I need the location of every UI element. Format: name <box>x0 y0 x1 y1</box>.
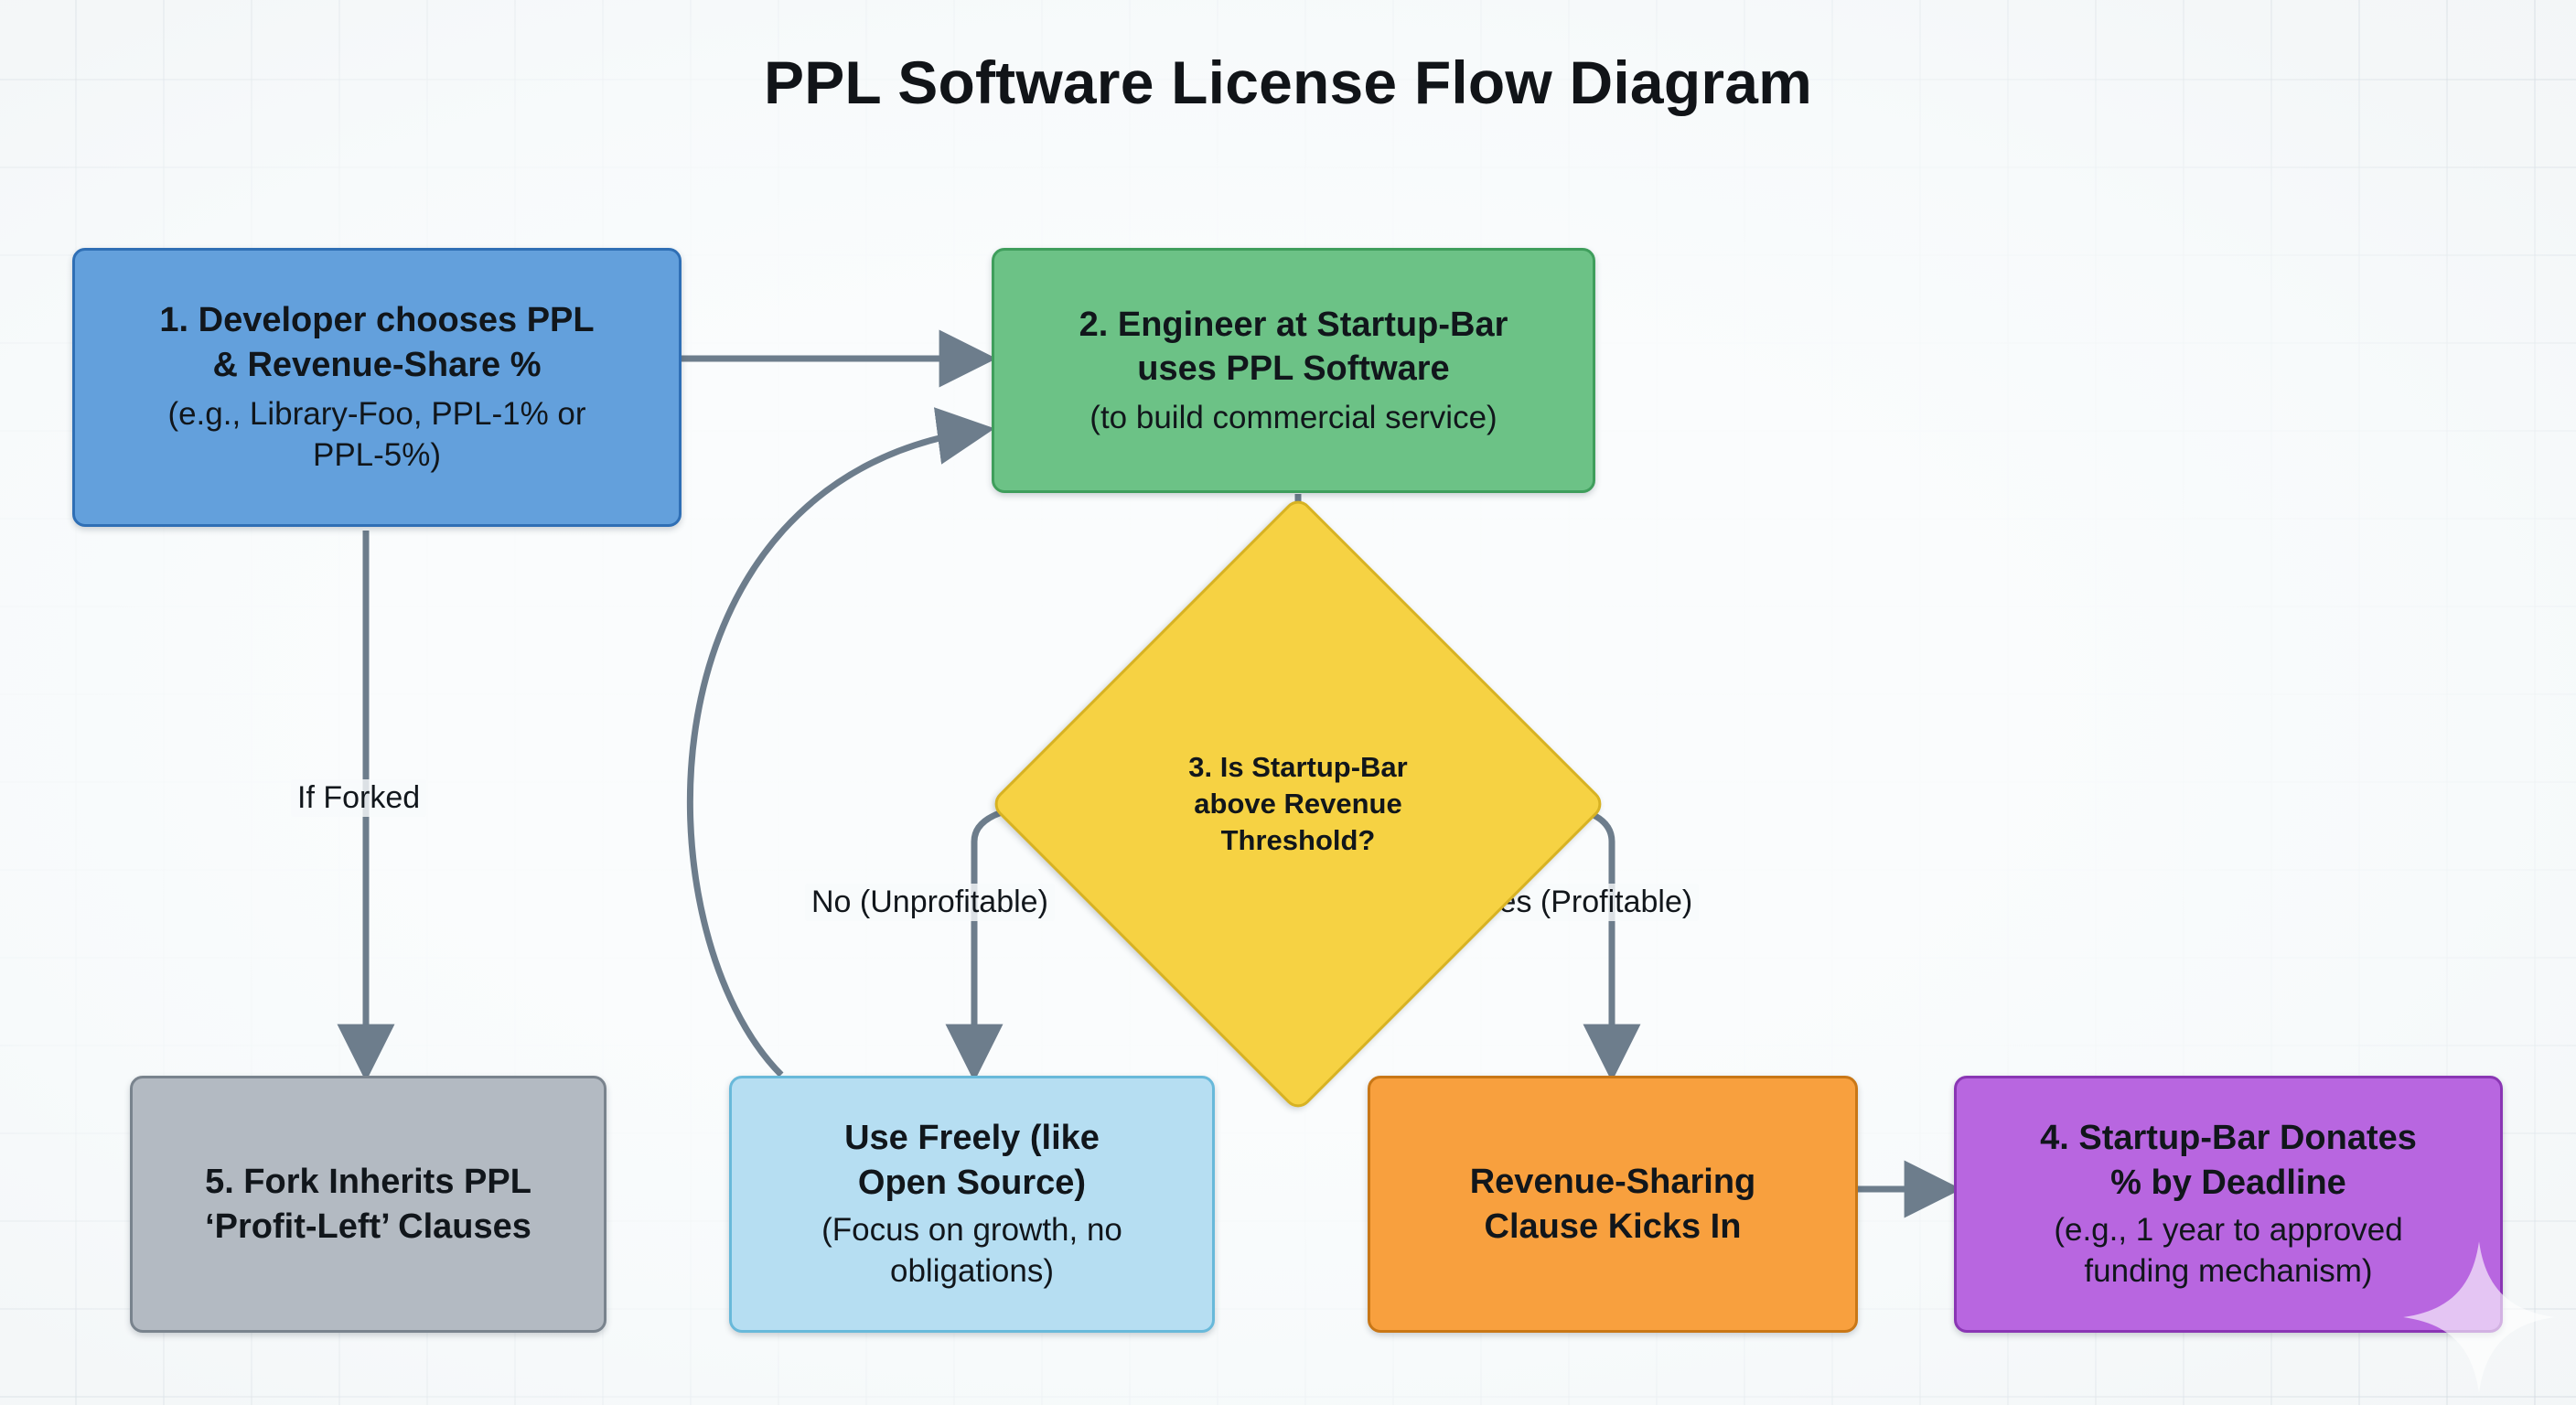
node-engineer-uses-ppl[interactable]: 2. Engineer at Startup-Baruses PPL Softw… <box>992 248 1595 493</box>
node-developer-chooses-ppl[interactable]: 1. Developer chooses PPL& Revenue-Share … <box>72 248 682 527</box>
node-title: Use Freely (likeOpen Source) <box>844 1116 1100 1205</box>
node-use-freely[interactable]: Use Freely (likeOpen Source) (Focus on g… <box>729 1076 1215 1333</box>
diagram-canvas: PPL Software License Flow Diagram If For… <box>0 0 2576 1405</box>
edge-label-if-forked: If Forked <box>291 779 426 817</box>
node-title: 4. Startup-Bar Donates% by Deadline <box>2040 1116 2417 1205</box>
node-subtitle: (e.g., Library-Foo, PPL-1% orPPL-5%) <box>167 393 585 477</box>
node-startup-bar-donates[interactable]: 4. Startup-Bar Donates% by Deadline (e.g… <box>1954 1076 2503 1333</box>
node-subtitle: (to build commercial service) <box>1089 397 1497 439</box>
node-title: Revenue-SharingClause Kicks In <box>1470 1160 1756 1249</box>
node-title: 2. Engineer at Startup-Baruses PPL Softw… <box>1079 303 1508 391</box>
node-title: 1. Developer chooses PPL& Revenue-Share … <box>159 298 594 387</box>
edge-nfree-n2 <box>690 430 983 1075</box>
node-title: 3. Is Startup-Barabove RevenueThreshold? <box>1110 749 1486 860</box>
node-title: 5. Fork Inherits PPL‘Profit-Left’ Clause… <box>205 1160 531 1249</box>
node-revenue-threshold-decision[interactable]: 3. Is Startup-Barabove RevenueThreshold? <box>1079 585 1517 1023</box>
node-revenue-sharing-clause[interactable]: Revenue-SharingClause Kicks In <box>1368 1076 1858 1333</box>
node-subtitle: (e.g., 1 year to approvedfunding mechani… <box>2054 1209 2402 1292</box>
node-subtitle: (Focus on growth, noobligations) <box>821 1209 1122 1292</box>
node-fork-inherits-ppl[interactable]: 5. Fork Inherits PPL‘Profit-Left’ Clause… <box>130 1076 606 1333</box>
edge-label-no-unprofitable: No (Unprofitable) <box>805 884 1055 921</box>
